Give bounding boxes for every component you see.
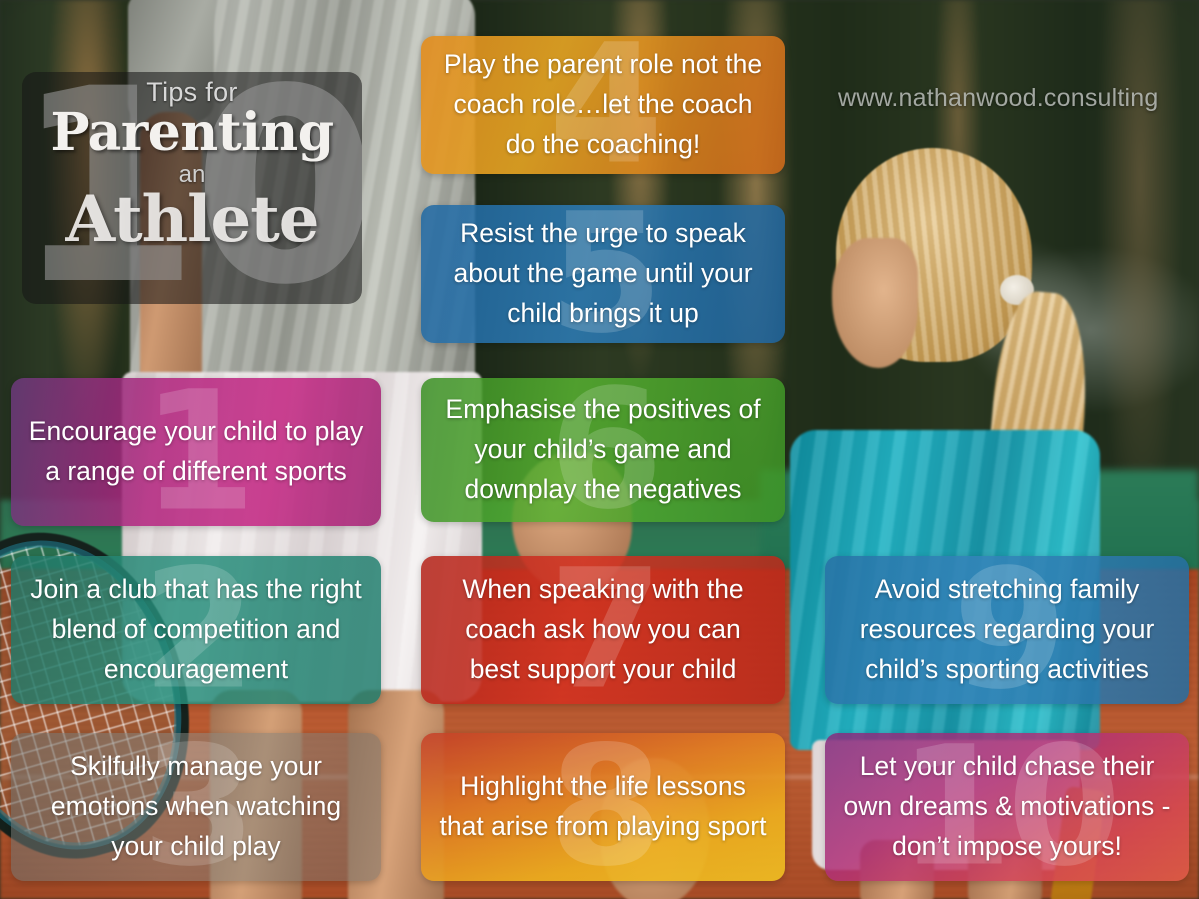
tip-text-1: Encourage your child to play a range of … <box>11 412 381 492</box>
tip-card-1: 1 Encourage your child to play a range o… <box>11 378 381 526</box>
tip-card-2: 2 Join a club that has the right blend o… <box>11 556 381 704</box>
tip-card-9: 9 Avoid stretching family resources rega… <box>825 556 1189 704</box>
tip-text-10: Let your child chase their own dreams & … <box>825 747 1189 866</box>
website-url[interactable]: www.nathanwood.consulting <box>838 84 1158 113</box>
tip-card-5: 5 Resist the urge to speak about the gam… <box>421 205 785 343</box>
tip-text-3: Skilfully manage your emotions when watc… <box>11 747 381 866</box>
tip-text-7: When speaking with the coach ask how you… <box>421 570 785 689</box>
title-line-two: Athlete <box>66 188 319 252</box>
tip-card-6: 6 Emphasise the positives of your child’… <box>421 378 785 522</box>
tip-text-8: Highlight the life lessons that arise fr… <box>421 767 785 847</box>
tip-card-4: 4 Play the parent role not the coach rol… <box>421 36 785 174</box>
tip-card-3: 3 Skilfully manage your emotions when wa… <box>11 733 381 881</box>
title-text-group: Tips for Parenting an Athlete <box>22 72 362 304</box>
title-card: 10 Tips for Parenting an Athlete <box>22 72 362 304</box>
tip-text-2: Join a club that has the right blend of … <box>11 570 381 689</box>
tip-text-5: Resist the urge to speak about the game … <box>421 214 785 333</box>
tip-text-6: Emphasise the positives of your child’s … <box>421 390 785 509</box>
title-line-one: Parenting <box>50 106 333 159</box>
tip-text-9: Avoid stretching family resources regard… <box>825 570 1189 689</box>
tip-card-7: 7 When speaking with the coach ask how y… <box>421 556 785 704</box>
tip-card-10: 10 Let your child chase their own dreams… <box>825 733 1189 881</box>
tip-text-4: Play the parent role not the coach role…… <box>421 45 785 164</box>
infographic-canvas: 10 Tips for Parenting an Athlete www.nat… <box>0 0 1199 899</box>
tip-card-8: 8 Highlight the life lessons that arise … <box>421 733 785 881</box>
